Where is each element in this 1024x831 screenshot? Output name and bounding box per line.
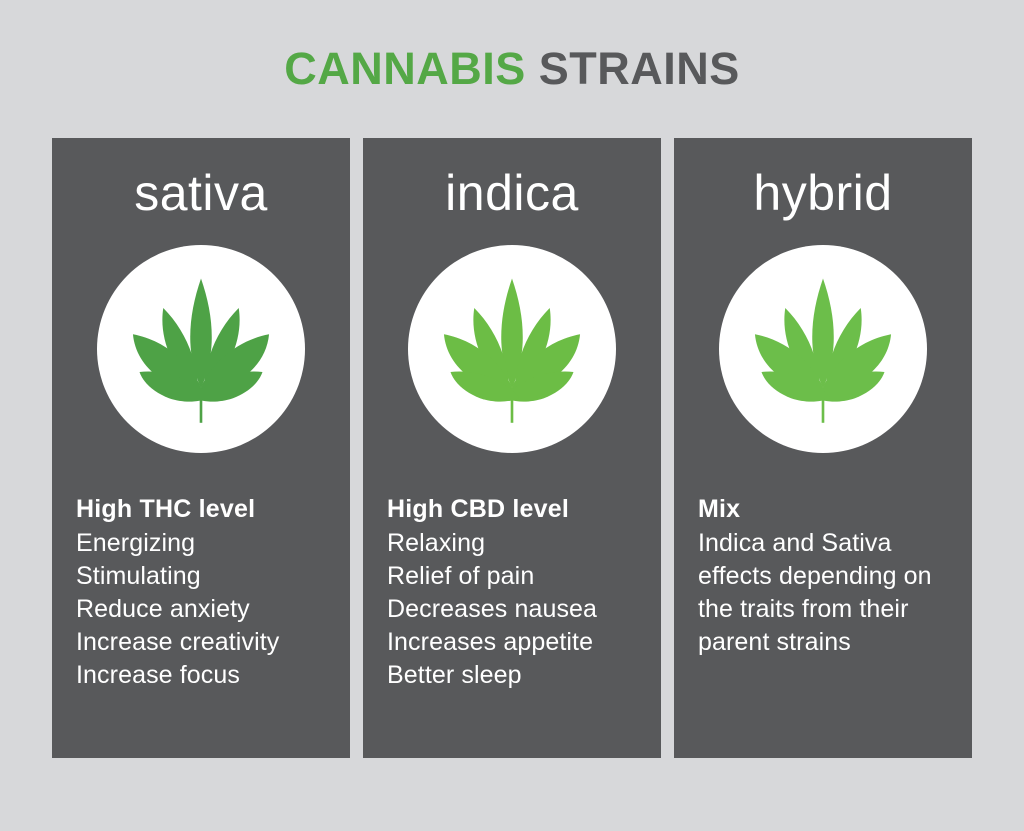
leaf-medallion-sativa <box>97 245 305 453</box>
strain-card-hybrid: hybrid Mix Indica and Sativa effects dep… <box>674 138 972 758</box>
strain-effect-item: Decreases nausea <box>387 593 651 626</box>
strain-effect-item: Increase creativity <box>76 626 340 659</box>
page-title-rest: STRAINS <box>539 43 740 94</box>
strain-title-sativa: sativa <box>52 168 350 218</box>
strain-card-sativa: sativa High THC level Energizing Stimula… <box>52 138 350 758</box>
strain-heading-indica: High CBD level <box>387 493 651 526</box>
strain-title-hybrid: hybrid <box>674 168 972 218</box>
strain-effect-item: Increases appetite <box>387 626 651 659</box>
strain-heading-sativa: High THC level <box>76 493 340 526</box>
strain-effect-item: Reduce anxiety <box>76 593 340 626</box>
page-title-highlight: CANNABIS <box>284 43 526 94</box>
strain-heading-hybrid: Mix <box>698 493 962 526</box>
strain-info-hybrid: Mix Indica and Sativa effects depending … <box>698 493 962 659</box>
strain-effect-item: Increase focus <box>76 659 340 692</box>
strain-info-sativa: High THC level Energizing Stimulating Re… <box>76 493 340 692</box>
leaf-medallion-indica <box>408 245 616 453</box>
cannabis-leaf-icon <box>430 267 594 431</box>
strain-effect-item: Energizing <box>76 527 340 560</box>
strain-title-indica: indica <box>363 168 661 218</box>
strain-description-hybrid: Indica and Sativa effects depending on t… <box>698 527 962 659</box>
strain-effect-item: Relief of pain <box>387 560 651 593</box>
strain-card-indica: indica High CBD level Relaxing Relief of… <box>363 138 661 758</box>
cannabis-leaf-icon <box>119 267 283 431</box>
leaf-medallion-hybrid <box>719 245 927 453</box>
strain-panels: sativa High THC level Energizing Stimula… <box>52 138 972 758</box>
cannabis-leaf-icon <box>741 267 905 431</box>
strain-effect-item: Relaxing <box>387 527 651 560</box>
strain-effect-item: Better sleep <box>387 659 651 692</box>
strain-effect-item: Stimulating <box>76 560 340 593</box>
page-title: CANNABIS STRAINS <box>0 46 1024 91</box>
strain-info-indica: High CBD level Relaxing Relief of pain D… <box>387 493 651 692</box>
